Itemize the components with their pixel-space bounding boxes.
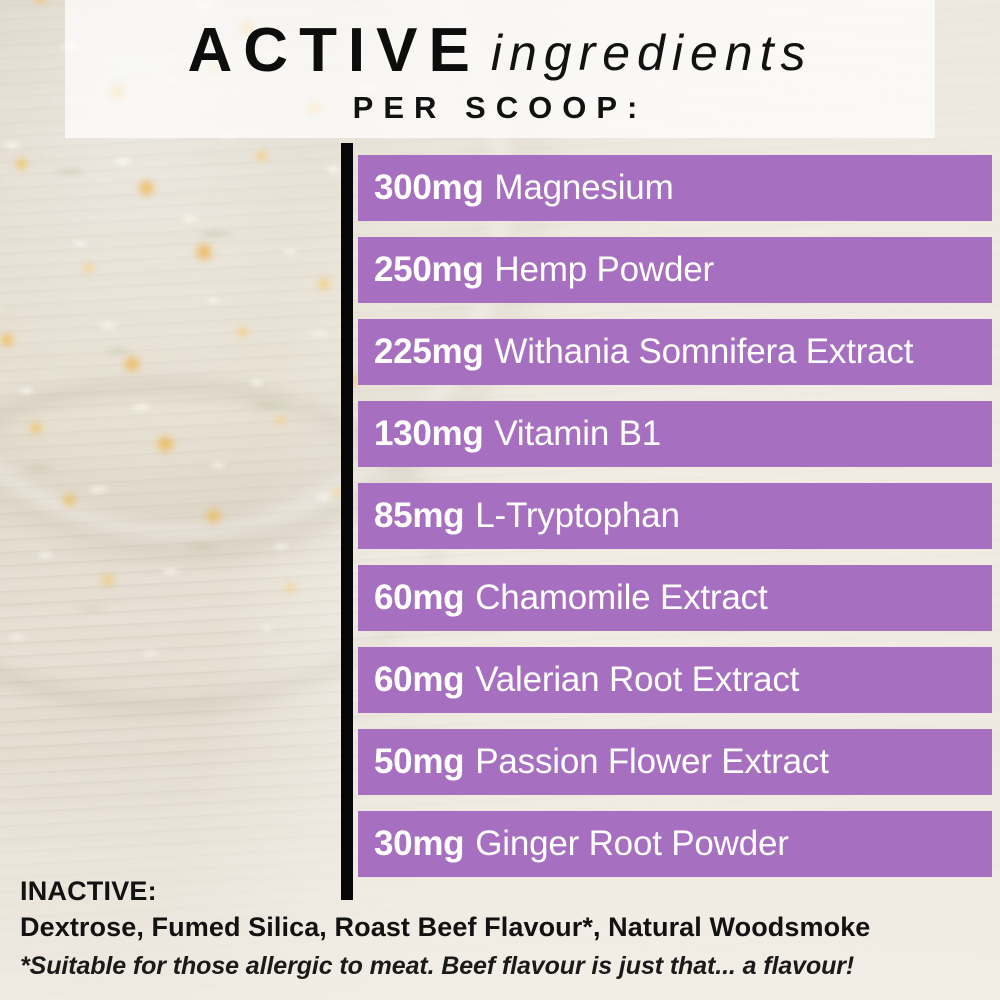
ingredient-name: Vitamin B1: [494, 414, 661, 454]
ingredient-name: L-Tryptophan: [475, 496, 679, 536]
ingredient-name: Ginger Root Powder: [475, 824, 789, 864]
ingredient-dose: 30mg: [374, 824, 464, 864]
ingredient-row: 225mg Withania Somnifera Extract: [358, 319, 992, 385]
ingredient-name: Magnesium: [494, 168, 673, 208]
ingredient-name: Valerian Root Extract: [475, 660, 799, 700]
ingredient-dose: 85mg: [374, 496, 464, 536]
ingredient-name: Withania Somnifera Extract: [494, 332, 913, 372]
ingredient-name: Passion Flower Extract: [475, 742, 829, 782]
flavour-disclaimer: *Suitable for those allergic to meat. Be…: [20, 950, 985, 983]
ingredient-dose: 300mg: [374, 168, 483, 208]
ingredients-infographic: ACTIVE ingredients PER SCOOP: 300mg Magn…: [0, 0, 1000, 1000]
ingredient-dose: 50mg: [374, 742, 464, 782]
ingredient-name: Chamomile Extract: [475, 578, 767, 618]
ingredient-row: 30mg Ginger Root Powder: [358, 811, 992, 877]
ingredient-dose: 130mg: [374, 414, 483, 454]
title-active: ACTIVE: [188, 20, 481, 82]
inactive-label: INACTIVE:: [20, 876, 985, 907]
ingredient-row: 85mg L-Tryptophan: [358, 483, 992, 549]
ingredient-name: Hemp Powder: [494, 250, 714, 290]
ingredient-dose: 60mg: [374, 660, 464, 700]
ingredient-row: 60mg Chamomile Extract: [358, 565, 992, 631]
ingredient-dose: 225mg: [374, 332, 483, 372]
ingredient-dose: 60mg: [374, 578, 464, 618]
ingredient-row: 50mg Passion Flower Extract: [358, 729, 992, 795]
ingredient-row: 60mg Valerian Root Extract: [358, 647, 992, 713]
vertical-divider: [341, 143, 353, 900]
inactive-ingredient-list: Dextrose, Fumed Silica, Roast Beef Flavo…: [20, 910, 985, 945]
subtitle-per-scoop: PER SCOOP:: [65, 90, 935, 126]
ingredient-row: 300mg Magnesium: [358, 155, 992, 221]
ingredient-row: 250mg Hemp Powder: [358, 237, 992, 303]
ingredient-row: 130mg Vitamin B1: [358, 401, 992, 467]
ingredient-bar-list: 300mg Magnesium 250mg Hemp Powder 225mg …: [358, 155, 992, 877]
page-title: ACTIVE ingredients: [65, 14, 935, 88]
footer: INACTIVE: Dextrose, Fumed Silica, Roast …: [20, 876, 985, 983]
ingredient-dose: 250mg: [374, 250, 483, 290]
title-ingredients: ingredients: [491, 28, 813, 78]
